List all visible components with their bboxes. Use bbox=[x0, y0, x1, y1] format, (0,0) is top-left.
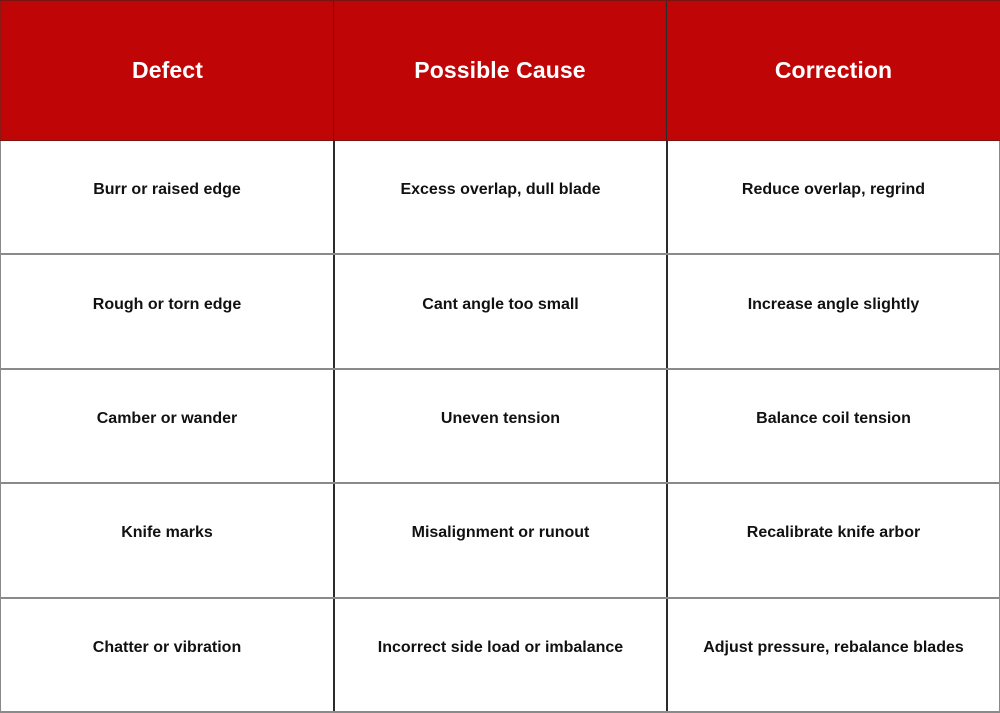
table-row: Rough or torn edge Cant angle too small … bbox=[0, 255, 1000, 369]
cell-correction-text: Increase angle slightly bbox=[748, 295, 920, 315]
column-header-defect: Defect bbox=[0, 1, 333, 140]
table-row: Knife marks Misalignment or runout Recal… bbox=[0, 484, 1000, 598]
table-row: Camber or wander Uneven tension Balance … bbox=[0, 370, 1000, 484]
cell-defect-text: Burr or raised edge bbox=[93, 180, 241, 200]
cell-defect-text: Camber or wander bbox=[97, 409, 237, 429]
cell-defect-text: Rough or torn edge bbox=[93, 295, 241, 315]
cell-possible-cause-text: Excess overlap, dull blade bbox=[400, 180, 600, 200]
cell-possible-cause: Misalignment or runout bbox=[333, 484, 666, 596]
column-header-possible-cause: Possible Cause bbox=[333, 1, 666, 140]
cell-correction-text: Adjust pressure, rebalance blades bbox=[703, 638, 964, 658]
cell-possible-cause: Excess overlap, dull blade bbox=[333, 141, 666, 253]
column-header-correction-label: Correction bbox=[775, 57, 892, 85]
table-header-row: Defect Possible Cause Correction bbox=[0, 0, 1000, 141]
cell-possible-cause: Cant angle too small bbox=[333, 255, 666, 367]
cell-correction-text: Recalibrate knife arbor bbox=[747, 523, 920, 543]
table-row: Chatter or vibration Incorrect side load… bbox=[0, 599, 1000, 713]
cell-correction: Adjust pressure, rebalance blades bbox=[666, 599, 1000, 711]
cell-possible-cause-text: Uneven tension bbox=[441, 409, 560, 429]
cell-defect: Knife marks bbox=[0, 484, 333, 596]
cell-correction: Reduce overlap, regrind bbox=[666, 141, 1000, 253]
column-header-correction: Correction bbox=[666, 1, 1000, 140]
cell-correction: Increase angle slightly bbox=[666, 255, 1000, 367]
table-body: Burr or raised edge Excess overlap, dull… bbox=[0, 141, 1000, 713]
column-header-possible-cause-label: Possible Cause bbox=[414, 57, 585, 85]
cell-defect: Burr or raised edge bbox=[0, 141, 333, 253]
cell-defect: Rough or torn edge bbox=[0, 255, 333, 367]
cell-defect: Camber or wander bbox=[0, 370, 333, 482]
cell-possible-cause-text: Incorrect side load or imbalance bbox=[378, 638, 623, 658]
table-row: Burr or raised edge Excess overlap, dull… bbox=[0, 141, 1000, 255]
cell-possible-cause-text: Cant angle too small bbox=[422, 295, 578, 315]
defect-troubleshooting-table: Defect Possible Cause Correction Burr or… bbox=[0, 0, 1000, 713]
cell-correction: Balance coil tension bbox=[666, 370, 1000, 482]
cell-correction-text: Reduce overlap, regrind bbox=[742, 180, 925, 200]
cell-correction-text: Balance coil tension bbox=[756, 409, 911, 429]
cell-defect-text: Knife marks bbox=[121, 523, 213, 543]
cell-possible-cause: Incorrect side load or imbalance bbox=[333, 599, 666, 711]
cell-defect: Chatter or vibration bbox=[0, 599, 333, 711]
cell-possible-cause-text: Misalignment or runout bbox=[412, 523, 590, 543]
cell-correction: Recalibrate knife arbor bbox=[666, 484, 1000, 596]
column-header-defect-label: Defect bbox=[132, 57, 203, 85]
cell-defect-text: Chatter or vibration bbox=[93, 638, 241, 658]
cell-possible-cause: Uneven tension bbox=[333, 370, 666, 482]
